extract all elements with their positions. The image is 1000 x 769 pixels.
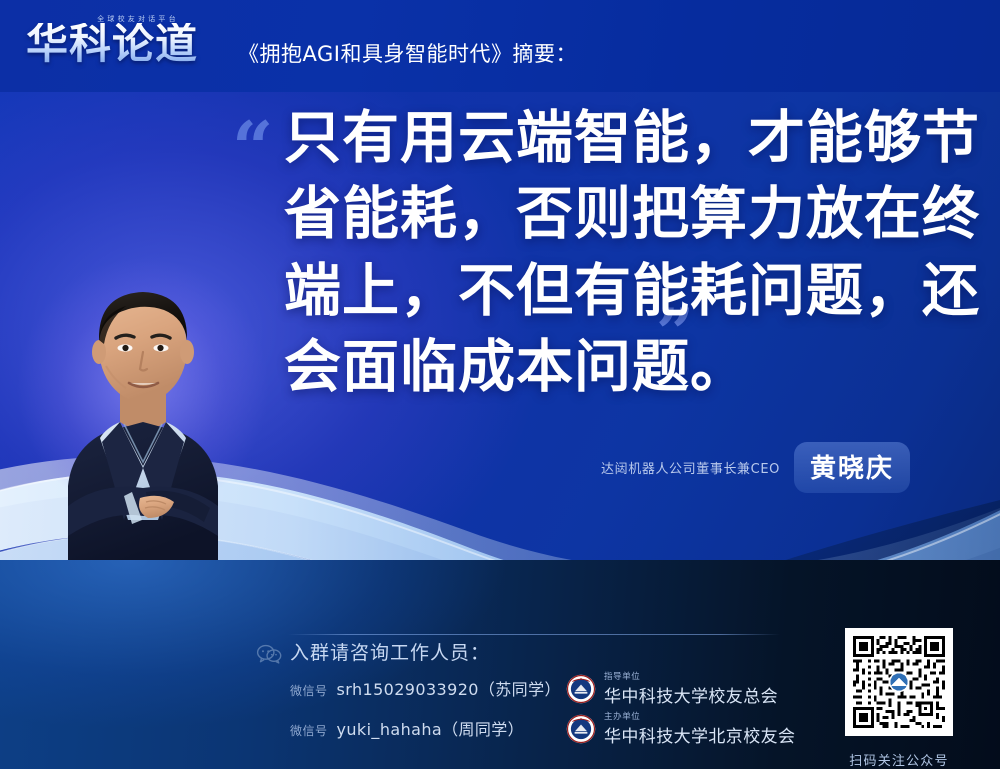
qr-code[interactable] — [845, 628, 953, 736]
portrait-illustration — [28, 270, 258, 560]
poster-canvas: 全球校友对话平台 华科论道 《拥抱AGI和具身智能时代》摘要： — [0, 0, 1000, 769]
quote-line-1: 只有用云端智能，才能够节 — [284, 100, 952, 176]
quote-line-2: 省能耗，否则把算力放在终 — [284, 176, 952, 252]
university-seal-icon — [566, 714, 596, 744]
university-seal-icon — [566, 674, 596, 704]
header-band: 全球校友对话平台 华科论道 《拥抱AGI和具身智能时代》摘要： — [0, 0, 1000, 92]
brand-logo[interactable]: 全球校友对话平台 华科论道 — [26, 14, 222, 74]
header-inner: 全球校友对话平台 华科论道 《拥抱AGI和具身智能时代》摘要： — [26, 14, 577, 74]
organization-text: 指导单位 华中科技大学校友总会 — [604, 670, 778, 707]
wechat-id[interactable]: yuki_hahaha（周同学） — [337, 716, 525, 740]
quote-line-3: 端上，不但有能耗问题，还 — [284, 253, 952, 329]
organization-name: 华中科技大学校友总会 — [604, 682, 778, 707]
organization-kind: 指导单位 — [604, 670, 778, 682]
attribution: 达闼机器人公司董事长兼CEO 黄晓庆 — [601, 442, 910, 493]
organization-text: 主办单位 华中科技大学北京校友会 — [604, 710, 795, 747]
footer-divider — [288, 634, 780, 635]
qr-block: 扫码关注公众号 — [838, 628, 960, 769]
quote-text: 只有用云端智能，才能够节 省能耗，否则把算力放在终 端上，不但有能耗问题，还 会… — [284, 100, 952, 406]
speaker-name-badge: 黄晓庆 — [794, 442, 910, 493]
page-title: 《拥抱AGI和具身智能时代》摘要： — [238, 38, 577, 68]
speaker-role: 达闼机器人公司董事长兼CEO — [601, 458, 780, 477]
quote-line-4: 会面临成本问题。 — [284, 329, 952, 405]
contact-row: 微信号 srh15029033920（苏同学） — [290, 676, 561, 700]
qr-caption: 扫码关注公众号 — [838, 750, 960, 769]
quote-open-mark: “ — [232, 112, 273, 184]
organization-name: 华中科技大学北京校友会 — [604, 722, 795, 747]
wechat-label: 微信号 — [290, 722, 328, 739]
speaker-portrait — [28, 270, 258, 560]
organization-row: 指导单位 华中科技大学校友总会 — [566, 670, 778, 707]
contact-title: 入群请咨询工作人员： — [290, 638, 490, 665]
brand-logo-text: 华科论道 — [26, 23, 198, 65]
wechat-label: 微信号 — [290, 682, 328, 699]
footer: 入群请咨询工作人员： 微信号 srh15029033920（苏同学） 微信号 y… — [0, 560, 1000, 769]
contact-row: 微信号 yuki_hahaha（周同学） — [290, 716, 524, 740]
wechat-id[interactable]: srh15029033920（苏同学） — [337, 676, 561, 700]
organization-row: 主办单位 华中科技大学北京校友会 — [566, 710, 795, 747]
quote-block: “ 只有用云端智能，才能够节 省能耗，否则把算力放在终 端上，不但有能耗问题，还… — [232, 100, 952, 406]
organization-kind: 主办单位 — [604, 710, 795, 722]
wechat-icon — [256, 644, 282, 664]
